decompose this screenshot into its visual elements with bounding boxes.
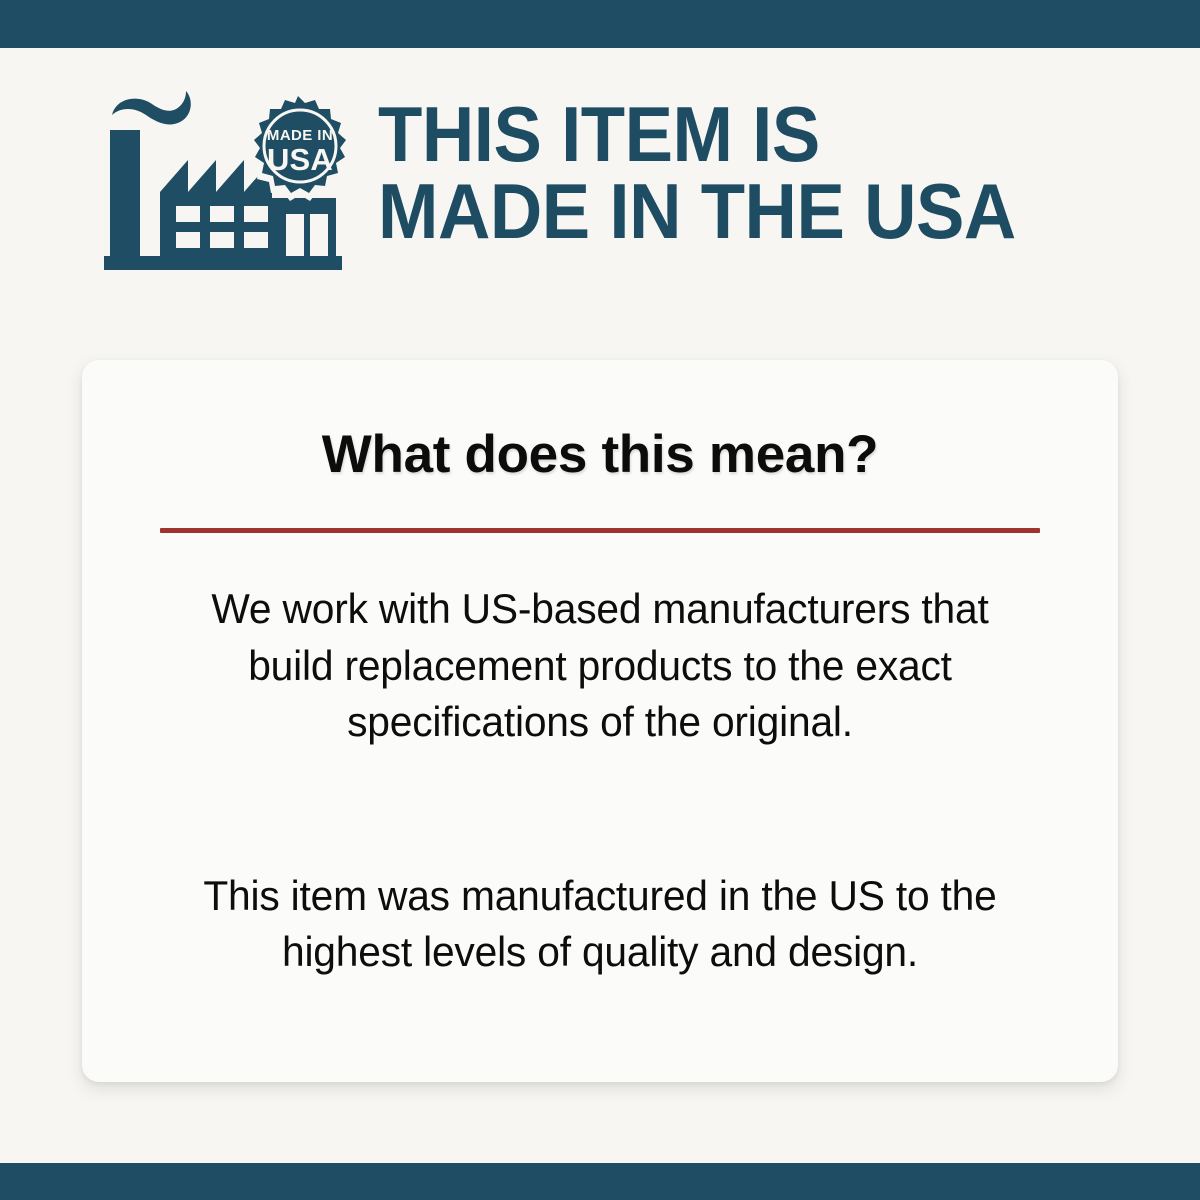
card-body: We work with US-based manufacturers that… <box>160 533 1040 980</box>
top-brand-band <box>0 0 1200 48</box>
page-title: THIS ITEM IS MADE IN THE USA <box>378 88 1150 250</box>
explanation-card: What does this mean? We work with US-bas… <box>82 360 1118 1082</box>
badge-usa-text: USA <box>267 142 333 177</box>
headline-line-2: MADE IN THE USA <box>378 173 1096 250</box>
bottom-brand-band <box>0 1163 1200 1200</box>
card-paragraph-2: This item was manufactured in the US to … <box>173 868 1027 981</box>
factory-made-in-usa-icon: MADE IN USA <box>100 88 350 273</box>
made-in-usa-banner: MADE IN USA THIS ITEM IS MADE IN THE USA… <box>0 0 1200 1200</box>
headline-line-1: THIS ITEM IS <box>378 96 1096 173</box>
card-paragraph-1: We work with US-based manufacturers that… <box>173 581 1027 750</box>
card-title: What does this mean? <box>160 360 1040 484</box>
header: MADE IN USA THIS ITEM IS MADE IN THE USA <box>100 88 1150 288</box>
